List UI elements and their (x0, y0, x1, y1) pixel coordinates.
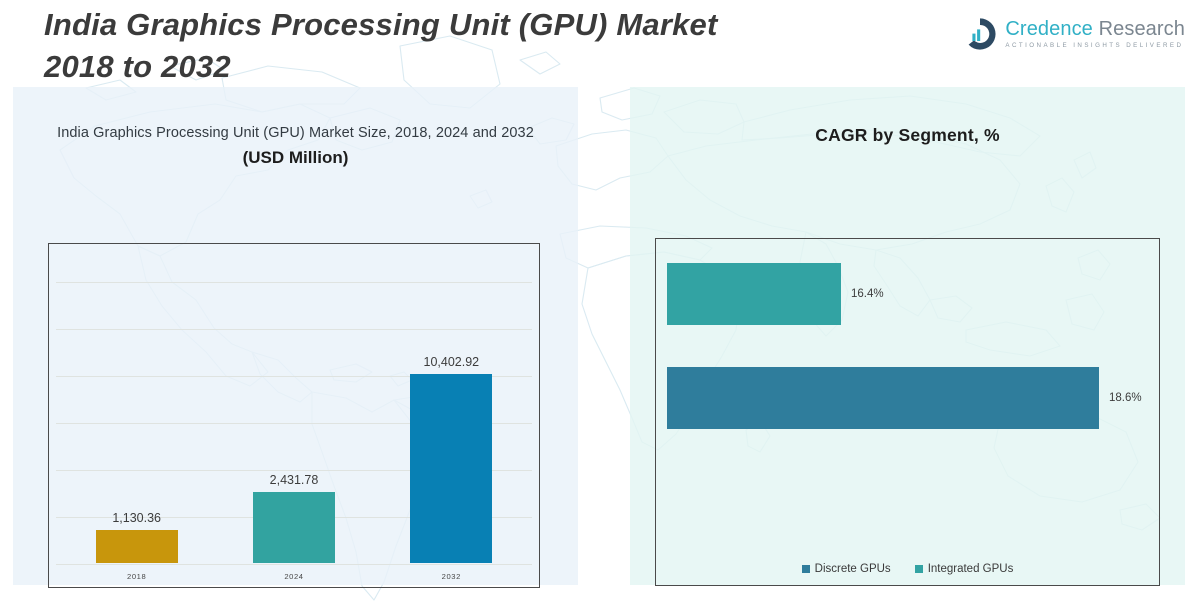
bar-chart-circle-icon (962, 16, 998, 52)
column-bar[interactable] (253, 492, 335, 563)
cagr-by-segment-bar-chart: 16.4% 18.6% Discrete GPUs Integrated GPU… (655, 238, 1160, 586)
logo-wordmark: Credence Research (1005, 19, 1185, 39)
column-category-2024: 2,431.78 2024 (215, 250, 372, 563)
legend-label: Discrete GPUs (815, 563, 891, 575)
column-axis-label: 2032 (442, 572, 461, 581)
legend-swatch-icon (915, 565, 923, 573)
column-category-2032: 10,402.92 2032 (373, 250, 530, 563)
market-size-column-chart: 1,130.36 2018 2,431.78 2024 10,402.92 20… (48, 243, 540, 588)
column-value-label: 1,130.36 (112, 511, 161, 525)
column-series: 1,130.36 2018 2,431.78 2024 10,402.92 20… (58, 250, 530, 563)
logo-word-primary: Credence (1005, 18, 1093, 40)
column-bar[interactable] (410, 374, 492, 563)
bar-row-integrated-gpus: 16.4% (667, 263, 884, 325)
bar-row-discrete-gpus: 18.6% (667, 367, 1142, 429)
column-axis-label: 2018 (127, 572, 146, 581)
bar-value-label: 18.6% (1109, 392, 1142, 404)
column-axis-label: 2024 (284, 572, 303, 581)
column-bar[interactable] (96, 530, 178, 563)
legend-item-discrete-gpus[interactable]: Discrete GPUs (802, 563, 891, 575)
right-panel-heading: CAGR by Segment, % (630, 125, 1185, 146)
column-value-label: 10,402.92 (424, 355, 480, 369)
left-panel-heading-line-2: (USD Million) (13, 148, 578, 168)
column-value-label: 2,431.78 (270, 473, 319, 487)
cagr-panel: CAGR by Segment, % 16.4% 18.6% Discrete … (630, 87, 1185, 585)
market-size-panel: India Graphics Processing Unit (GPU) Mar… (13, 87, 578, 585)
legend-label: Integrated GPUs (928, 563, 1014, 575)
column-category-2018: 1,130.36 2018 (58, 250, 215, 563)
logo-text: Credence Research Actionable Insights De… (1005, 19, 1185, 49)
legend-item-integrated-gpus[interactable]: Integrated GPUs (915, 563, 1014, 575)
bar-value-label: 16.4% (851, 288, 884, 300)
legend-swatch-icon (802, 565, 810, 573)
credence-research-logo[interactable]: Credence Research Actionable Insights De… (962, 12, 1185, 56)
column-chart-plot-area: 1,130.36 2018 2,431.78 2024 10,402.92 20… (49, 244, 539, 587)
page-title-line-1: India Graphics Processing Unit (GPU) Mar… (44, 4, 904, 46)
infographic-root: India Graphics Processing Unit (GPU) Mar… (0, 0, 1197, 606)
bar-chart-plot-area: 16.4% 18.6% Discrete GPUs Integrated GPU… (656, 239, 1159, 585)
gridline (56, 564, 532, 565)
page-title: India Graphics Processing Unit (GPU) Mar… (44, 4, 904, 88)
bar-discrete-gpus[interactable] (667, 367, 1099, 429)
logo-word-secondary: Research (1099, 18, 1185, 40)
logo-tagline: Actionable Insights Delivered (1005, 43, 1185, 49)
page-title-line-2: 2018 to 2032 (44, 46, 904, 88)
bar-integrated-gpus[interactable] (667, 263, 841, 325)
chart-legend: Discrete GPUs Integrated GPUs (656, 563, 1159, 575)
left-panel-heading-line-1: India Graphics Processing Unit (GPU) Mar… (13, 125, 578, 141)
page-header: India Graphics Processing Unit (GPU) Mar… (0, 0, 1197, 88)
left-panel-heading: India Graphics Processing Unit (GPU) Mar… (13, 125, 578, 168)
